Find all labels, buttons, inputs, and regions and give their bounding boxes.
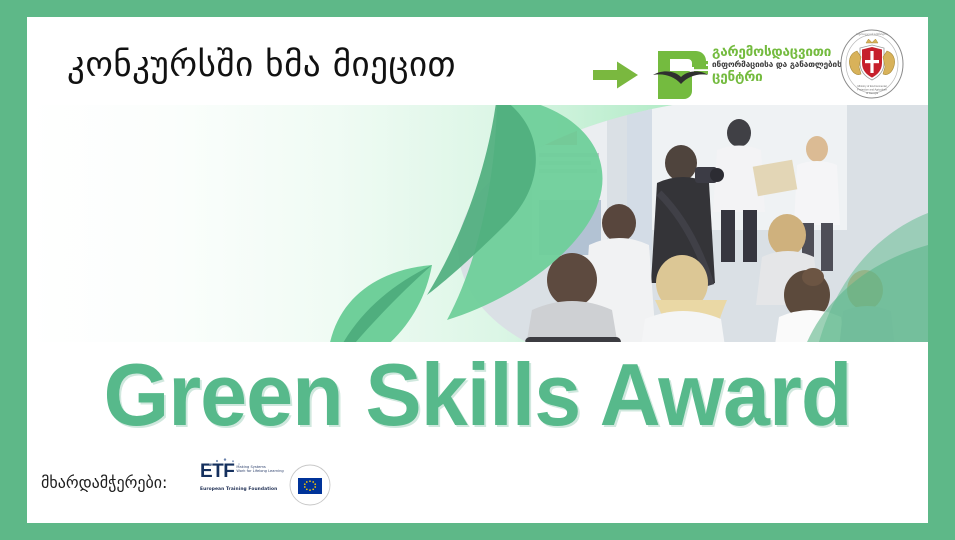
poster-header: კონკურსში ხმა მიეცით გარ bbox=[27, 17, 928, 105]
etf-subtitle: European Training Foundation bbox=[200, 487, 288, 492]
partner-logo-line1: გარემოსდაცვითი bbox=[712, 45, 844, 59]
eu-flag-logo bbox=[289, 464, 331, 506]
supporters-label: მხარდამჭერები: bbox=[41, 473, 167, 492]
georgia-ministry-seal: Ministry of Environmental Protection and… bbox=[837, 27, 907, 101]
etf-tagline-2: Work for Lifelong Learning bbox=[236, 469, 283, 473]
poster-root: კონკურსში ხმა მიეცით გარ bbox=[0, 0, 955, 540]
eiec-book-mark-icon bbox=[652, 45, 708, 101]
svg-text:Ministry of Environmental: Ministry of Environmental bbox=[857, 84, 887, 88]
partner-logo-text: გარემოსდაცვითი ინფორმაციისა და განათლები… bbox=[712, 45, 844, 85]
svg-text:Protection and Agriculture: Protection and Agriculture bbox=[857, 87, 887, 91]
leaf-decoration-icon bbox=[27, 105, 928, 342]
svg-text:of Georgia: of Georgia bbox=[866, 91, 879, 95]
partner-logo-line3: ცენტრი bbox=[712, 70, 844, 85]
partner-logo: გარემოსდაცვითი ინფორმაციისა და განათლები… bbox=[652, 43, 842, 103]
headline-georgian: კონკურსში ხმა მიეცით bbox=[67, 44, 572, 86]
hero-banner bbox=[27, 105, 928, 342]
svg-text:საქართველოს სამინისტრო: საქართველოს სამინისტრო bbox=[856, 33, 888, 36]
etf-logo: ETF Making Systems Work for Lifelong Lea… bbox=[200, 462, 288, 508]
page-title: Green Skills Award bbox=[45, 347, 910, 443]
arrow-right-icon bbox=[593, 61, 639, 89]
etf-dots-icon bbox=[204, 458, 244, 467]
poster-footer: მხარდამჭერები: ETF Making Systems Work f… bbox=[27, 460, 928, 520]
poster-card: კონკურსში ხმა მიეცით გარ bbox=[27, 17, 928, 523]
